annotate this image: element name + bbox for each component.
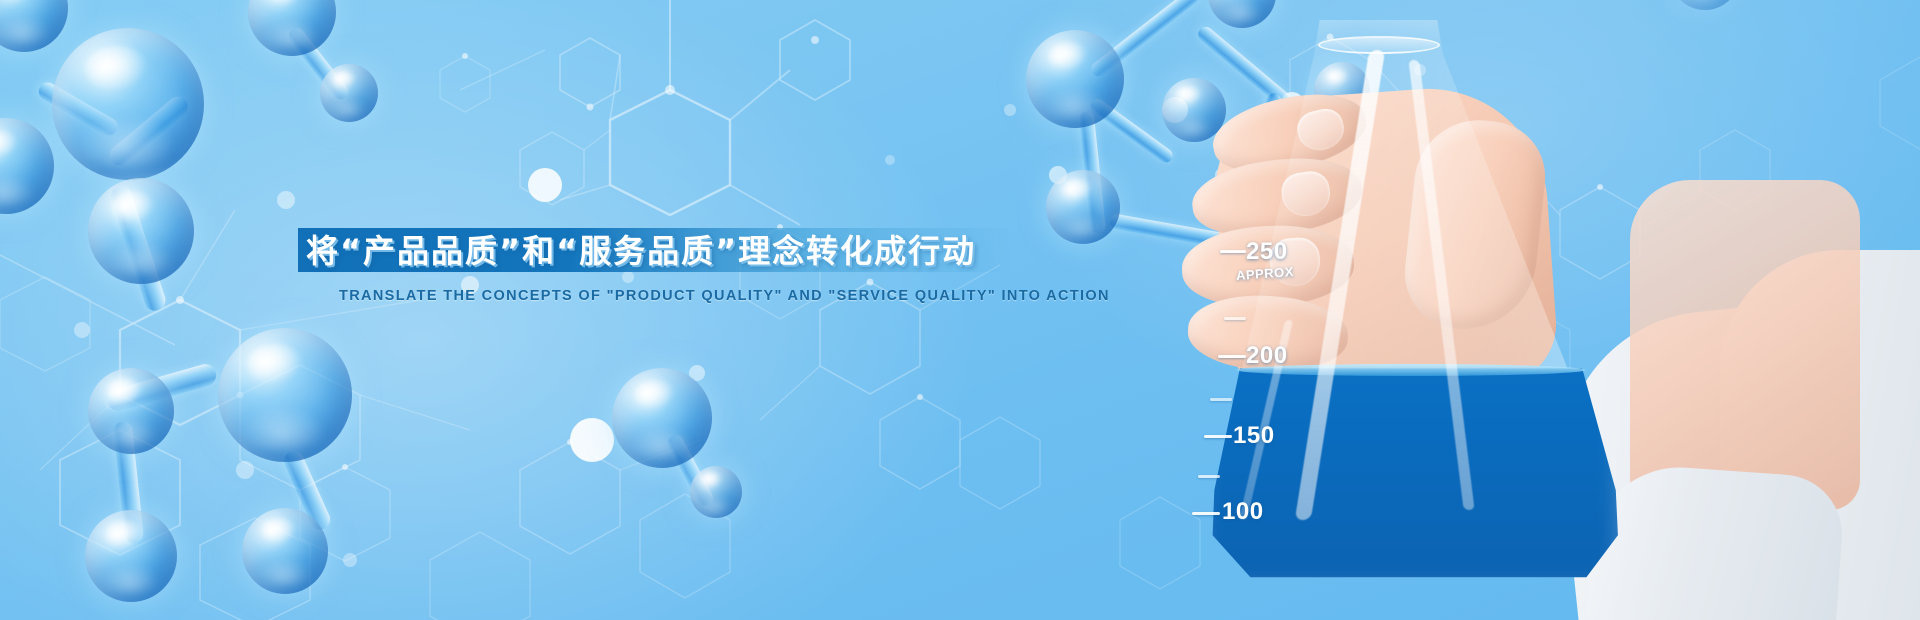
flask-tick bbox=[1224, 317, 1246, 320]
liquid-surface bbox=[1236, 364, 1586, 376]
molecule-sphere bbox=[242, 508, 328, 594]
flask-graduation-250: 250 bbox=[1246, 238, 1288, 266]
molecule-sphere bbox=[1046, 170, 1120, 244]
page-title: 将“产品品质”和“服务品质”理念转化成行动 bbox=[306, 229, 1026, 273]
molecule-sphere bbox=[88, 368, 174, 454]
flask-tick bbox=[1220, 250, 1246, 253]
molecule-sphere bbox=[612, 368, 712, 468]
hand-holding-flask-photo: 250 APPROX 200 150 100 bbox=[1160, 0, 1920, 620]
flask-tick bbox=[1192, 512, 1220, 515]
molecule-sphere bbox=[218, 328, 352, 462]
flask-tick bbox=[1210, 398, 1232, 401]
flask-graduation-150: 150 bbox=[1233, 422, 1275, 450]
erlenmeyer-flask: 250 APPROX 200 150 100 bbox=[1200, 20, 1620, 600]
flask-graduation-100: 100 bbox=[1222, 498, 1264, 526]
molecule-sphere bbox=[690, 466, 742, 518]
molecule-sphere bbox=[1026, 30, 1124, 128]
flask-tick bbox=[1198, 475, 1220, 478]
molecule-sphere bbox=[85, 510, 177, 602]
flask-tick bbox=[1204, 435, 1232, 438]
neck-skin bbox=[1630, 180, 1860, 510]
molecule-sphere bbox=[52, 28, 204, 180]
flask-tick bbox=[1218, 355, 1246, 358]
molecule-sphere bbox=[88, 178, 194, 284]
hero-banner: 250 APPROX 200 150 100 将“产品品质”和“服务品质”理念转… bbox=[0, 0, 1920, 620]
page-subtitle: TRANSLATE THE CONCEPTS OF "PRODUCT QUALI… bbox=[339, 288, 1110, 304]
molecule-sphere bbox=[320, 64, 378, 122]
flask-graduation-200: 200 bbox=[1246, 342, 1288, 370]
